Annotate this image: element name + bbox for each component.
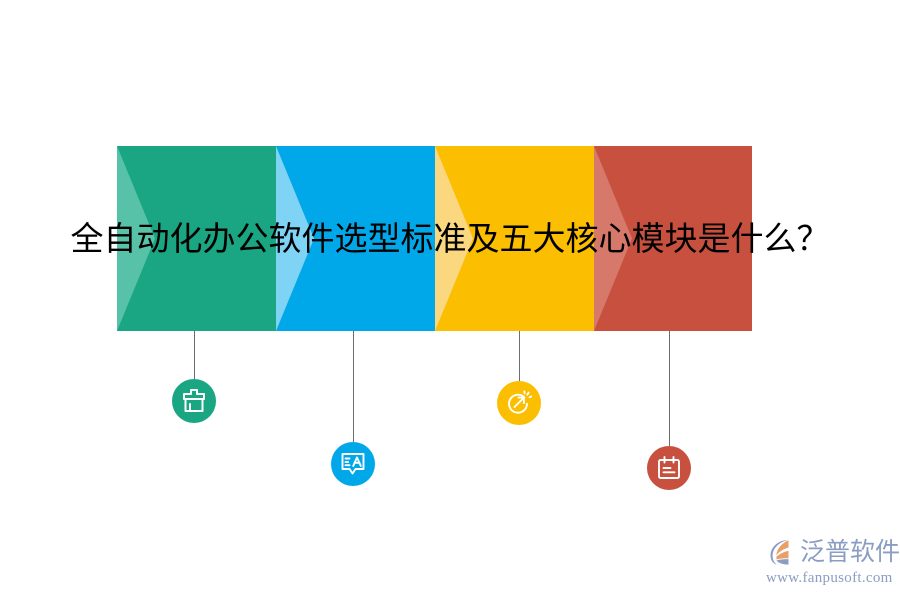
node-2[interactable] [331, 442, 375, 486]
connector-line-4 [669, 331, 670, 446]
growth-arrow-icon [506, 390, 532, 416]
connector-line-3 [519, 331, 520, 381]
connector-line-1 [194, 331, 195, 379]
store-icon [181, 388, 207, 414]
node-1[interactable] [172, 379, 216, 423]
fanpu-swoosh-logo-icon [766, 536, 798, 568]
translate-icon [340, 451, 366, 477]
node-4[interactable] [647, 446, 691, 490]
node-3[interactable] [497, 381, 541, 425]
slide-canvas: 全自动化办公软件选型标准及五大核心模块是什么？ [0, 0, 900, 600]
logo-brand-name: 泛普软件 [800, 537, 900, 567]
notepad-icon [656, 455, 682, 481]
logo-row: 泛普软件 [766, 534, 892, 570]
connector-line-2 [353, 331, 354, 442]
brand-logo[interactable]: 泛普软件 www.fanpusoft.com [766, 534, 892, 590]
logo-website: www.fanpusoft.com [766, 569, 892, 587]
page-title: 全自动化办公软件选型标准及五大核心模块是什么？ [0, 206, 900, 272]
